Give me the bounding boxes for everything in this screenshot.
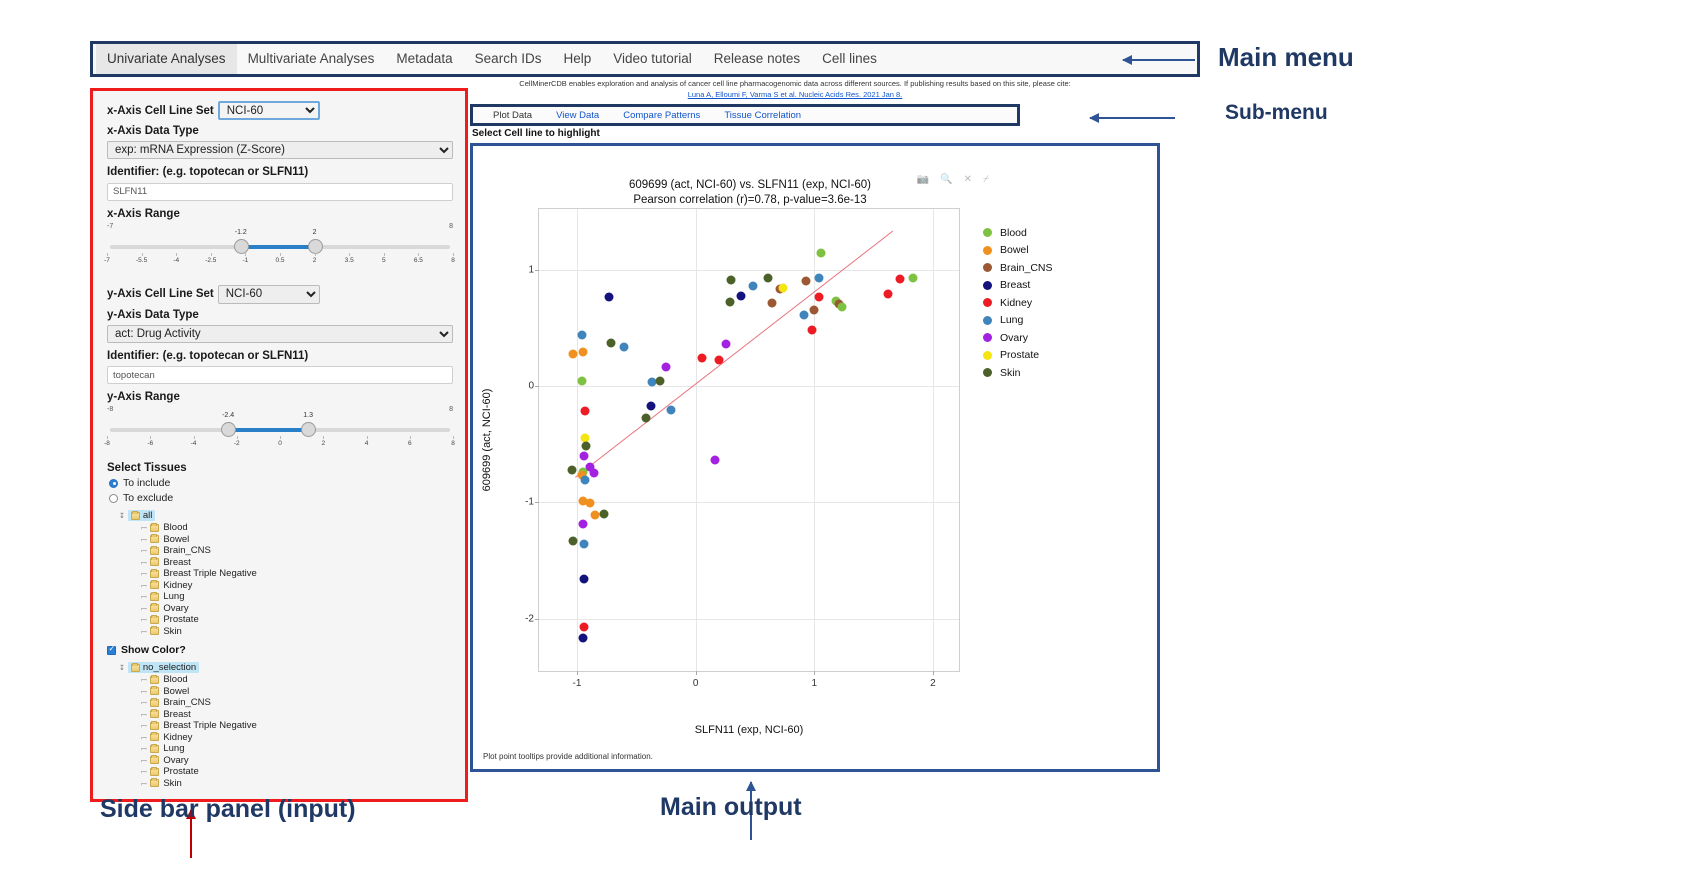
scatter-point[interactable] <box>580 540 589 549</box>
folder-icon <box>150 710 159 718</box>
scatter-point[interactable] <box>661 363 670 372</box>
x-axis-slider-tick <box>453 253 454 256</box>
x-axis-identifier-label: Identifier: (e.g. topotecan or SLFN11) <box>107 166 453 178</box>
y-axis-slider-tick-label: 6 <box>408 440 412 447</box>
x-axis-range-group: x-Axis Range -78-1.22-7-5.5-4-2.5-10.523… <box>107 208 453 271</box>
scatter-point[interactable] <box>815 293 824 302</box>
plot-footer-note: Plot point tooltips provide additional i… <box>483 752 653 761</box>
scatter-point[interactable] <box>569 536 578 545</box>
folder-icon <box>150 733 159 741</box>
folder-icon <box>150 768 159 776</box>
y-axis-slider-tick-label: 0 <box>278 440 282 447</box>
scatter-point[interactable] <box>799 310 808 319</box>
x-axis-range-label: x-Axis Range <box>107 208 453 220</box>
plot-title-line1: 609699 (act, NCI-60) vs. SLFN11 (exp, NC… <box>493 178 1007 193</box>
legend-color-swatch <box>983 368 992 377</box>
x-axis-range-slider[interactable]: -78-1.22-7-5.5-4-2.5-10.523.556.58 <box>107 223 453 271</box>
expand-icon[interactable]: ↧ <box>119 512 125 520</box>
color-tissue-item-lung[interactable]: ⌐-Lung <box>141 743 453 755</box>
tree-connector-icon: ⌐- <box>141 615 146 624</box>
scatter-point[interactable] <box>586 499 595 508</box>
arrow-sub-menu <box>1090 117 1175 119</box>
x-axis-slider-tick-label: -2.5 <box>205 257 216 264</box>
y-gridline <box>539 270 959 271</box>
y-axis-identifier-group: Identifier: (e.g. topotecan or SLFN11) <box>107 350 453 385</box>
x-axis-cell-line-set-row: x-Axis Cell Line Set NCI-60 <box>107 101 453 120</box>
folder-icon <box>150 779 159 787</box>
scatter-point[interactable] <box>883 289 892 298</box>
sub-menu-item-compare-patterns[interactable]: Compare Patterns <box>611 108 712 123</box>
scatter-point[interactable] <box>656 377 665 386</box>
scatter-point[interactable] <box>620 343 629 352</box>
scatter-point[interactable] <box>578 348 587 357</box>
scatter-point[interactable] <box>568 465 577 474</box>
y-axis-slider-tick-label: 2 <box>321 440 325 447</box>
x-axis-range-min-label: -7 <box>107 223 113 230</box>
radio-include-label: To include <box>123 477 170 489</box>
x-axis-slider-tick-label: 0.5 <box>275 257 284 264</box>
tree-connector-icon: ⌐- <box>141 675 146 684</box>
x-axis-data-type-select[interactable]: exp: mRNA Expression (Z-Score) <box>107 141 453 159</box>
scatter-point[interactable] <box>666 406 675 415</box>
x-gridline <box>933 209 934 671</box>
scatter-point[interactable] <box>710 456 719 465</box>
tissues-include-radio-row[interactable]: To include <box>109 477 453 489</box>
x-axis-slider-tick <box>280 253 281 256</box>
tissue-item-lung[interactable]: ⌐-Lung <box>141 591 453 603</box>
y-axis-cell-line-set-label: y-Axis Cell Line Set <box>107 288 214 300</box>
y-axis-slider-value-low: -2.4 <box>222 412 234 419</box>
scatter-point[interactable] <box>895 274 904 283</box>
site-blurb: CellMinerCDB enables exploration and ana… <box>470 78 1120 100</box>
y-tick-mark <box>535 386 539 387</box>
show-color-row[interactable]: Show Color? <box>107 644 453 656</box>
folder-icon <box>150 616 159 624</box>
scatter-point[interactable] <box>580 451 589 460</box>
x-axis-slider-fill <box>241 245 315 249</box>
legend-item-bowel[interactable]: Bowel <box>983 242 1053 260</box>
x-tick-label: 0 <box>693 678 699 689</box>
x-axis-slider-handle-high[interactable] <box>308 239 323 254</box>
tree-connector-icon: ⌐- <box>141 546 146 555</box>
y-axis-title: 609699 (act, NCI-60) <box>481 389 493 492</box>
sub-menu-item-tissue-correlation[interactable]: Tissue Correlation <box>712 108 813 123</box>
tissue-root[interactable]: ↧all <box>119 510 453 521</box>
sub-menu: Plot DataView DataCompare PatternsTissue… <box>473 107 1017 123</box>
y-axis-slider-tick-label: -2 <box>234 440 240 447</box>
y-axis-cell-line-set-select[interactable]: NCI-60 <box>218 285 320 304</box>
tree-item-label: Lung <box>163 743 184 754</box>
y-axis-slider-ticks: -8-6-4-202468 <box>107 436 453 450</box>
annotation-output: Main output <box>660 793 802 822</box>
scatter-point[interactable] <box>810 306 819 315</box>
tissue-item-ovary[interactable]: ⌐-Ovary <box>141 603 453 615</box>
legend-item-blood[interactable]: Blood <box>983 224 1053 242</box>
scatter-point[interactable] <box>607 338 616 347</box>
tree-item-label: Breast Triple Negative <box>163 568 256 579</box>
y-tick-label: 0 <box>528 380 534 391</box>
color-tissue-root[interactable]: ↧no_selection <box>119 662 453 673</box>
y-tick-mark <box>535 619 539 620</box>
sub-menu-item-view-data[interactable]: View Data <box>544 108 611 123</box>
annotation-sidebar: Side bar panel (input) <box>100 795 356 824</box>
legend-item-prostate[interactable]: Prostate <box>983 347 1053 365</box>
x-axis-slider-tick-label: -7 <box>104 257 110 264</box>
tree-connector-icon: ⌐- <box>141 710 146 719</box>
scatter-point[interactable] <box>748 281 757 290</box>
y-gridline <box>539 502 959 503</box>
scatter-point[interactable] <box>817 249 826 258</box>
tissue-item-breast[interactable]: ⌐-Breast <box>141 557 453 569</box>
arrow-main-menu <box>1123 59 1195 61</box>
folder-icon <box>150 570 159 578</box>
color-tissue-item-prostate[interactable]: ⌐-Prostate <box>141 766 453 778</box>
main-menu-item-cell-lines[interactable]: Cell lines <box>811 44 888 74</box>
plot-title: 609699 (act, NCI-60) vs. SLFN11 (exp, NC… <box>473 178 1157 208</box>
tree-connector-icon: ⌐- <box>141 569 146 578</box>
scatter-point[interactable] <box>801 277 810 286</box>
y-axis-slider-tick <box>367 436 368 439</box>
y-axis-slider-handle-low[interactable] <box>221 422 236 437</box>
highlight-label: Select Cell line to highlight <box>472 128 600 139</box>
folder-icon <box>150 535 159 543</box>
color-tissue-root-label: no_selection <box>143 662 196 673</box>
tree-connector-icon: ⌐- <box>141 767 146 776</box>
color-tissue-tree[interactable]: ↧no_selection⌐-Blood⌐-Bowel⌐-Brain_CNS⌐-… <box>119 662 453 789</box>
y-axis-slider-tick-label: -6 <box>147 440 153 447</box>
tree-connector-icon: ⌐- <box>141 627 146 636</box>
color-tissue-item-blood[interactable]: ⌐-Blood <box>141 674 453 686</box>
tree-item-label: Ovary <box>163 603 188 614</box>
tree-item-label: Skin <box>163 778 181 789</box>
trend-line <box>575 230 894 477</box>
y-tick-mark <box>535 502 539 503</box>
x-axis-slider-tick <box>142 253 143 256</box>
tissue-item-blood[interactable]: ⌐-Blood <box>141 522 453 534</box>
y-axis-data-type-group: y-Axis Data Type act: Drug Activity <box>107 309 453 343</box>
color-tissue-item-breast-triple-negative[interactable]: ⌐-Breast Triple Negative <box>141 720 453 732</box>
tree-item-label: Kidney <box>163 732 192 743</box>
scatter-point[interactable] <box>641 414 650 423</box>
tree-item-label: Blood <box>163 674 187 685</box>
y-tick-label: -2 <box>525 613 534 624</box>
x-axis-cell-line-set-label: x-Axis Cell Line Set <box>107 105 214 117</box>
folder-icon <box>150 593 159 601</box>
x-axis-data-type-label: x-Axis Data Type <box>107 125 453 137</box>
tissue-root-label: all <box>143 510 153 521</box>
y-gridline <box>539 386 959 387</box>
legend-label: Breast <box>1000 279 1030 291</box>
scatter-point[interactable] <box>715 356 724 365</box>
legend-label: Brain_CNS <box>1000 262 1053 274</box>
plot-title-line2: Pearson correlation (r)=0.78, p-value=3.… <box>493 193 1007 208</box>
folder-icon <box>150 524 159 532</box>
tree-item-label: Prostate <box>163 766 198 777</box>
show-color-checkbox[interactable] <box>107 646 116 655</box>
main-menu-bar: Univariate AnalysesMultivariate Analyses… <box>90 41 1200 77</box>
x-axis-slider-tick <box>245 253 246 256</box>
tissue-tree[interactable]: ↧all⌐-Blood⌐-Bowel⌐-Brain_CNS⌐-Breast⌐-B… <box>119 510 453 637</box>
tree-connector-icon: ⌐- <box>141 604 146 613</box>
show-color-label: Show Color? <box>121 644 186 656</box>
scatter-point[interactable] <box>577 377 586 386</box>
x-axis-slider-handle-low[interactable] <box>234 239 249 254</box>
legend-item-kidney[interactable]: Kidney <box>983 294 1053 312</box>
scatter-point[interactable] <box>837 302 846 311</box>
tree-connector-icon: ⌐- <box>141 592 146 601</box>
tissue-item-breast-triple-negative[interactable]: ⌐-Breast Triple Negative <box>141 568 453 580</box>
scatter-point[interactable] <box>736 292 745 301</box>
legend-item-brain_cns[interactable]: Brain_CNS <box>983 259 1053 277</box>
scatter-point[interactable] <box>726 298 735 307</box>
x-axis-slider-tick-label: 3.5 <box>345 257 354 264</box>
x-axis-identifier-input[interactable] <box>107 183 453 201</box>
folder-icon <box>150 627 159 635</box>
legend-color-swatch <box>983 228 992 237</box>
y-axis-slider-tick-label: 4 <box>365 440 369 447</box>
sidebar-panel: x-Axis Cell Line Set NCI-60 x-Axis Data … <box>90 88 468 802</box>
color-tissue-item-bowel[interactable]: ⌐-Bowel <box>141 686 453 698</box>
scatter-point[interactable] <box>815 273 824 282</box>
legend-color-swatch <box>983 351 992 360</box>
x-tick-label: 1 <box>811 678 817 689</box>
tree-item-label: Skin <box>163 626 181 637</box>
legend-label: Skin <box>1000 367 1020 379</box>
legend-label: Lung <box>1000 314 1023 326</box>
x-axis-slider-tick <box>176 253 177 256</box>
main-menu-item-release-notes[interactable]: Release notes <box>703 44 811 74</box>
main-menu-item-video-tutorial[interactable]: Video tutorial <box>602 44 703 74</box>
legend-item-breast[interactable]: Breast <box>983 277 1053 295</box>
scatter-point[interactable] <box>580 575 589 584</box>
x-axis-slider-ticks: -7-5.5-4-2.5-10.523.556.58 <box>107 253 453 267</box>
main-menu-item-search-ids[interactable]: Search IDs <box>464 44 553 74</box>
citation-link[interactable]: Luna A, Elloumi F, Varma S et al. Nuclei… <box>470 89 1120 100</box>
y-axis-slider-tick-label: 8 <box>451 440 455 447</box>
radio-exclude-icon[interactable] <box>109 494 118 503</box>
y-axis-range-slider[interactable]: -88-2.41.3-8-6-4-202468 <box>107 406 453 454</box>
scatter-point[interactable] <box>605 293 614 302</box>
folder-icon <box>150 676 159 684</box>
tree-connector-icon: ⌐- <box>141 535 146 544</box>
main-menu-item-multivariate-analyses[interactable]: Multivariate Analyses <box>237 44 386 74</box>
main-menu-item-univariate-analyses[interactable]: Univariate Analyses <box>96 44 237 74</box>
folder-icon <box>150 756 159 764</box>
scatter-point[interactable] <box>779 284 788 293</box>
x-axis-slider-value-low: -1.2 <box>235 229 247 236</box>
tree-item-label: Breast <box>163 557 190 568</box>
color-tissue-item-breast[interactable]: ⌐-Breast <box>141 709 453 721</box>
legend-label: Bowel <box>1000 244 1029 256</box>
y-axis-cell-line-set-row: y-Axis Cell Line Set NCI-60 <box>107 285 453 304</box>
tree-connector-icon: ⌐- <box>141 733 146 742</box>
scatter-point[interactable] <box>807 326 816 335</box>
y-axis-slider-handle-high[interactable] <box>301 422 316 437</box>
x-axis-slider-tick-label: 2 <box>313 257 317 264</box>
folder-icon <box>150 604 159 612</box>
color-tissue-item-brain_cns[interactable]: ⌐-Brain_CNS <box>141 697 453 709</box>
legend-color-swatch <box>983 281 992 290</box>
color-tissue-item-ovary[interactable]: ⌐-Ovary <box>141 755 453 767</box>
y-gridline <box>539 619 959 620</box>
tissue-item-brain_cns[interactable]: ⌐-Brain_CNS <box>141 545 453 557</box>
tree-item-label: Bowel <box>163 534 189 545</box>
legend-color-swatch <box>983 263 992 272</box>
legend-item-skin[interactable]: Skin <box>983 364 1053 382</box>
x-axis-identifier-group: Identifier: (e.g. topotecan or SLFN11) <box>107 166 453 201</box>
folder-icon <box>131 664 140 672</box>
y-axis-slider-tick-label: -8 <box>104 440 110 447</box>
y-axis-range-min-label: -8 <box>107 406 113 413</box>
x-gridline <box>577 209 578 671</box>
x-axis-cell-line-set-select[interactable]: NCI-60 <box>218 101 320 120</box>
tree-connector-icon: ⌐- <box>141 558 146 567</box>
tree-item-label: Breast Triple Negative <box>163 720 256 731</box>
y-tick-label: 1 <box>528 264 534 275</box>
legend-color-swatch <box>983 316 992 325</box>
legend-label: Prostate <box>1000 349 1039 361</box>
tree-connector-icon: ⌐- <box>141 744 146 753</box>
scatter-point[interactable] <box>600 509 609 518</box>
scatter-point[interactable] <box>722 339 731 348</box>
tree-connector-icon: ⌐- <box>141 698 146 707</box>
scatter-point[interactable] <box>727 275 736 284</box>
x-tick-mark <box>577 671 578 675</box>
tree-item-label: Brain_CNS <box>163 697 211 708</box>
main-menu-item-help[interactable]: Help <box>552 44 602 74</box>
y-axis-range-group: y-Axis Range -88-2.41.3-8-6-4-202468 <box>107 391 453 454</box>
folder-icon <box>150 687 159 695</box>
x-axis-slider-tick-label: 8 <box>451 257 455 264</box>
scatter-point[interactable] <box>589 469 598 478</box>
scatter-point[interactable] <box>697 353 706 362</box>
y-axis-data-type-select[interactable]: act: Drug Activity <box>107 325 453 343</box>
legend-item-ovary[interactable]: Ovary <box>983 329 1053 347</box>
annotation-sub-menu: Sub-menu <box>1225 101 1328 125</box>
folder-icon <box>150 745 159 753</box>
tree-item-label: Kidney <box>163 580 192 591</box>
tissue-item-skin[interactable]: ⌐-Skin <box>141 626 453 638</box>
tree-item-label: Ovary <box>163 755 188 766</box>
x-axis-slider-tick <box>107 253 108 256</box>
folder-icon <box>150 722 159 730</box>
tree-item-label: Blood <box>163 522 187 533</box>
y-axis-slider-tick-label: -4 <box>191 440 197 447</box>
x-axis-title: SLFN11 (exp, NCI-60) <box>538 724 960 736</box>
expand-icon[interactable]: ↧ <box>119 664 125 672</box>
sub-menu-bar: Plot DataView DataCompare PatternsTissue… <box>470 104 1020 126</box>
scatter-point[interactable] <box>577 330 586 339</box>
x-axis-slider-tick-label: 5 <box>382 257 386 264</box>
select-tissues-title: Select Tissues <box>107 462 453 474</box>
y-axis-slider-tick <box>453 436 454 439</box>
blurb-text: CellMinerCDB enables exploration and ana… <box>470 78 1120 89</box>
y-axis-data-type-label: y-Axis Data Type <box>107 309 453 321</box>
tissues-exclude-radio-row[interactable]: To exclude <box>109 492 453 504</box>
legend-color-swatch <box>983 298 992 307</box>
scatter-point[interactable] <box>908 273 917 282</box>
x-gridline <box>696 209 697 671</box>
scatter-point[interactable] <box>581 407 590 416</box>
tree-connector-icon: ⌐- <box>141 779 146 788</box>
x-tick-label: 2 <box>930 678 936 689</box>
y-axis-range-max-label: 8 <box>449 406 453 413</box>
tree-item-label: Breast <box>163 709 190 720</box>
tissue-item-prostate[interactable]: ⌐-Prostate <box>141 614 453 626</box>
tissue-item-bowel[interactable]: ⌐-Bowel <box>141 534 453 546</box>
scatter-point[interactable] <box>767 299 776 308</box>
color-tissue-item-kidney[interactable]: ⌐-Kidney <box>141 732 453 744</box>
x-axis-slider-tick-label: -1 <box>243 257 249 264</box>
folder-icon <box>150 547 159 555</box>
legend-label: Kidney <box>1000 297 1032 309</box>
sub-menu-item-plot-data[interactable]: Plot Data <box>481 108 544 123</box>
scatter-point[interactable] <box>581 476 590 485</box>
x-axis-slider-tick <box>418 253 419 256</box>
x-axis-slider-value-high: 2 <box>313 229 317 236</box>
tree-connector-icon: ⌐- <box>141 523 146 532</box>
main-menu-item-metadata[interactable]: Metadata <box>385 44 463 74</box>
y-axis-identifier-input[interactable] <box>107 366 453 384</box>
y-tick-mark <box>535 270 539 271</box>
tree-connector-icon: ⌐- <box>141 756 146 765</box>
scatter-point[interactable] <box>578 634 587 643</box>
scatter-point[interactable] <box>580 622 589 631</box>
x-axis-slider-tick-label: -5.5 <box>136 257 147 264</box>
y-axis-range-label: y-Axis Range <box>107 391 453 403</box>
color-tissue-item-skin[interactable]: ⌐-Skin <box>141 778 453 790</box>
folder-icon <box>150 699 159 707</box>
scatter-point[interactable] <box>590 511 599 520</box>
tree-connector-icon: ⌐- <box>141 581 146 590</box>
legend-color-swatch <box>983 246 992 255</box>
y-axis-slider-fill <box>228 428 308 432</box>
tree-item-label: Prostate <box>163 614 198 625</box>
y-axis-slider-tick <box>150 436 151 439</box>
x-tick-label: -1 <box>573 678 582 689</box>
x-axis-data-type-group: x-Axis Data Type exp: mRNA Expression (Z… <box>107 125 453 159</box>
annotation-main-menu: Main menu <box>1218 42 1354 73</box>
scatter-point[interactable] <box>578 520 587 529</box>
x-tick-mark <box>933 671 934 675</box>
scatter-point[interactable] <box>582 442 591 451</box>
radio-include-icon[interactable] <box>109 479 118 488</box>
x-tick-mark <box>814 671 815 675</box>
scatter-plot-area[interactable]: -101210-1-2 <box>538 208 960 672</box>
plot-legend: BloodBowelBrain_CNSBreastKidneyLungOvary… <box>983 224 1053 382</box>
y-tick-label: -1 <box>525 497 534 508</box>
scatter-point[interactable] <box>569 350 578 359</box>
x-axis-slider-tick <box>349 253 350 256</box>
legend-label: Blood <box>1000 227 1027 239</box>
y-axis-slider-value-high: 1.3 <box>303 412 313 419</box>
y-axis-identifier-label: Identifier: (e.g. topotecan or SLFN11) <box>107 350 453 362</box>
y-axis-slider-tick <box>323 436 324 439</box>
x-axis-slider-tick-label: 6.5 <box>414 257 423 264</box>
tissue-item-kidney[interactable]: ⌐-Kidney <box>141 580 453 592</box>
legend-item-lung[interactable]: Lung <box>983 312 1053 330</box>
scatter-point[interactable] <box>763 273 772 282</box>
main-menu: Univariate AnalysesMultivariate Analyses… <box>93 44 1197 74</box>
x-axis-slider-tick <box>211 253 212 256</box>
folder-icon <box>131 512 140 520</box>
y-axis-slider-tick <box>410 436 411 439</box>
legend-color-swatch <box>983 333 992 342</box>
scatter-point[interactable] <box>646 401 655 410</box>
radio-exclude-label: To exclude <box>123 492 173 504</box>
x-axis-range-max-label: 8 <box>449 223 453 230</box>
main-output-panel: 📷 🔍 ✕ ⌿ 609699 (act, NCI-60) vs. SLFN11 … <box>470 143 1160 772</box>
